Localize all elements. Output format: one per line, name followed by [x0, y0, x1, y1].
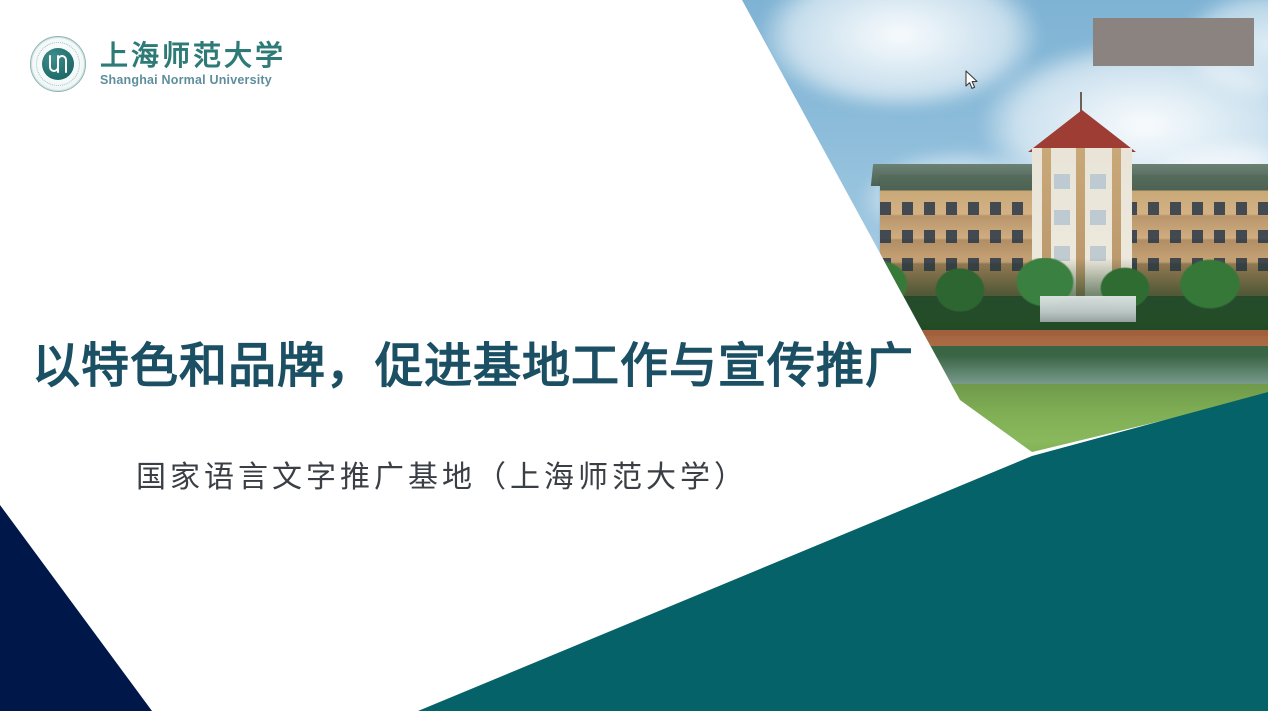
building-red-roof — [1028, 110, 1136, 152]
logo-chinese-name: 上海师范大学 — [100, 41, 286, 70]
university-logo: 上海师范大学 Shanghai Normal University — [30, 36, 286, 92]
slide-headline: 以特色和品牌，促进基地工作与宣传推广 — [32, 326, 914, 396]
logo-english-name: Shanghai Normal University — [100, 73, 286, 87]
slide-subtitle: 国家语言文字推广基地（上海师范大学） — [136, 452, 748, 496]
grey-placeholder-box — [1093, 18, 1254, 66]
logo-wordmark: 上海师范大学 Shanghai Normal University — [100, 41, 286, 86]
university-seal-icon — [30, 36, 86, 92]
seal-monogram-icon — [42, 48, 74, 80]
building-entrance — [1040, 296, 1136, 322]
tree-line — [760, 258, 1268, 336]
presentation-slide: 上海师范大学 Shanghai Normal University 以特色和品牌… — [0, 0, 1268, 711]
